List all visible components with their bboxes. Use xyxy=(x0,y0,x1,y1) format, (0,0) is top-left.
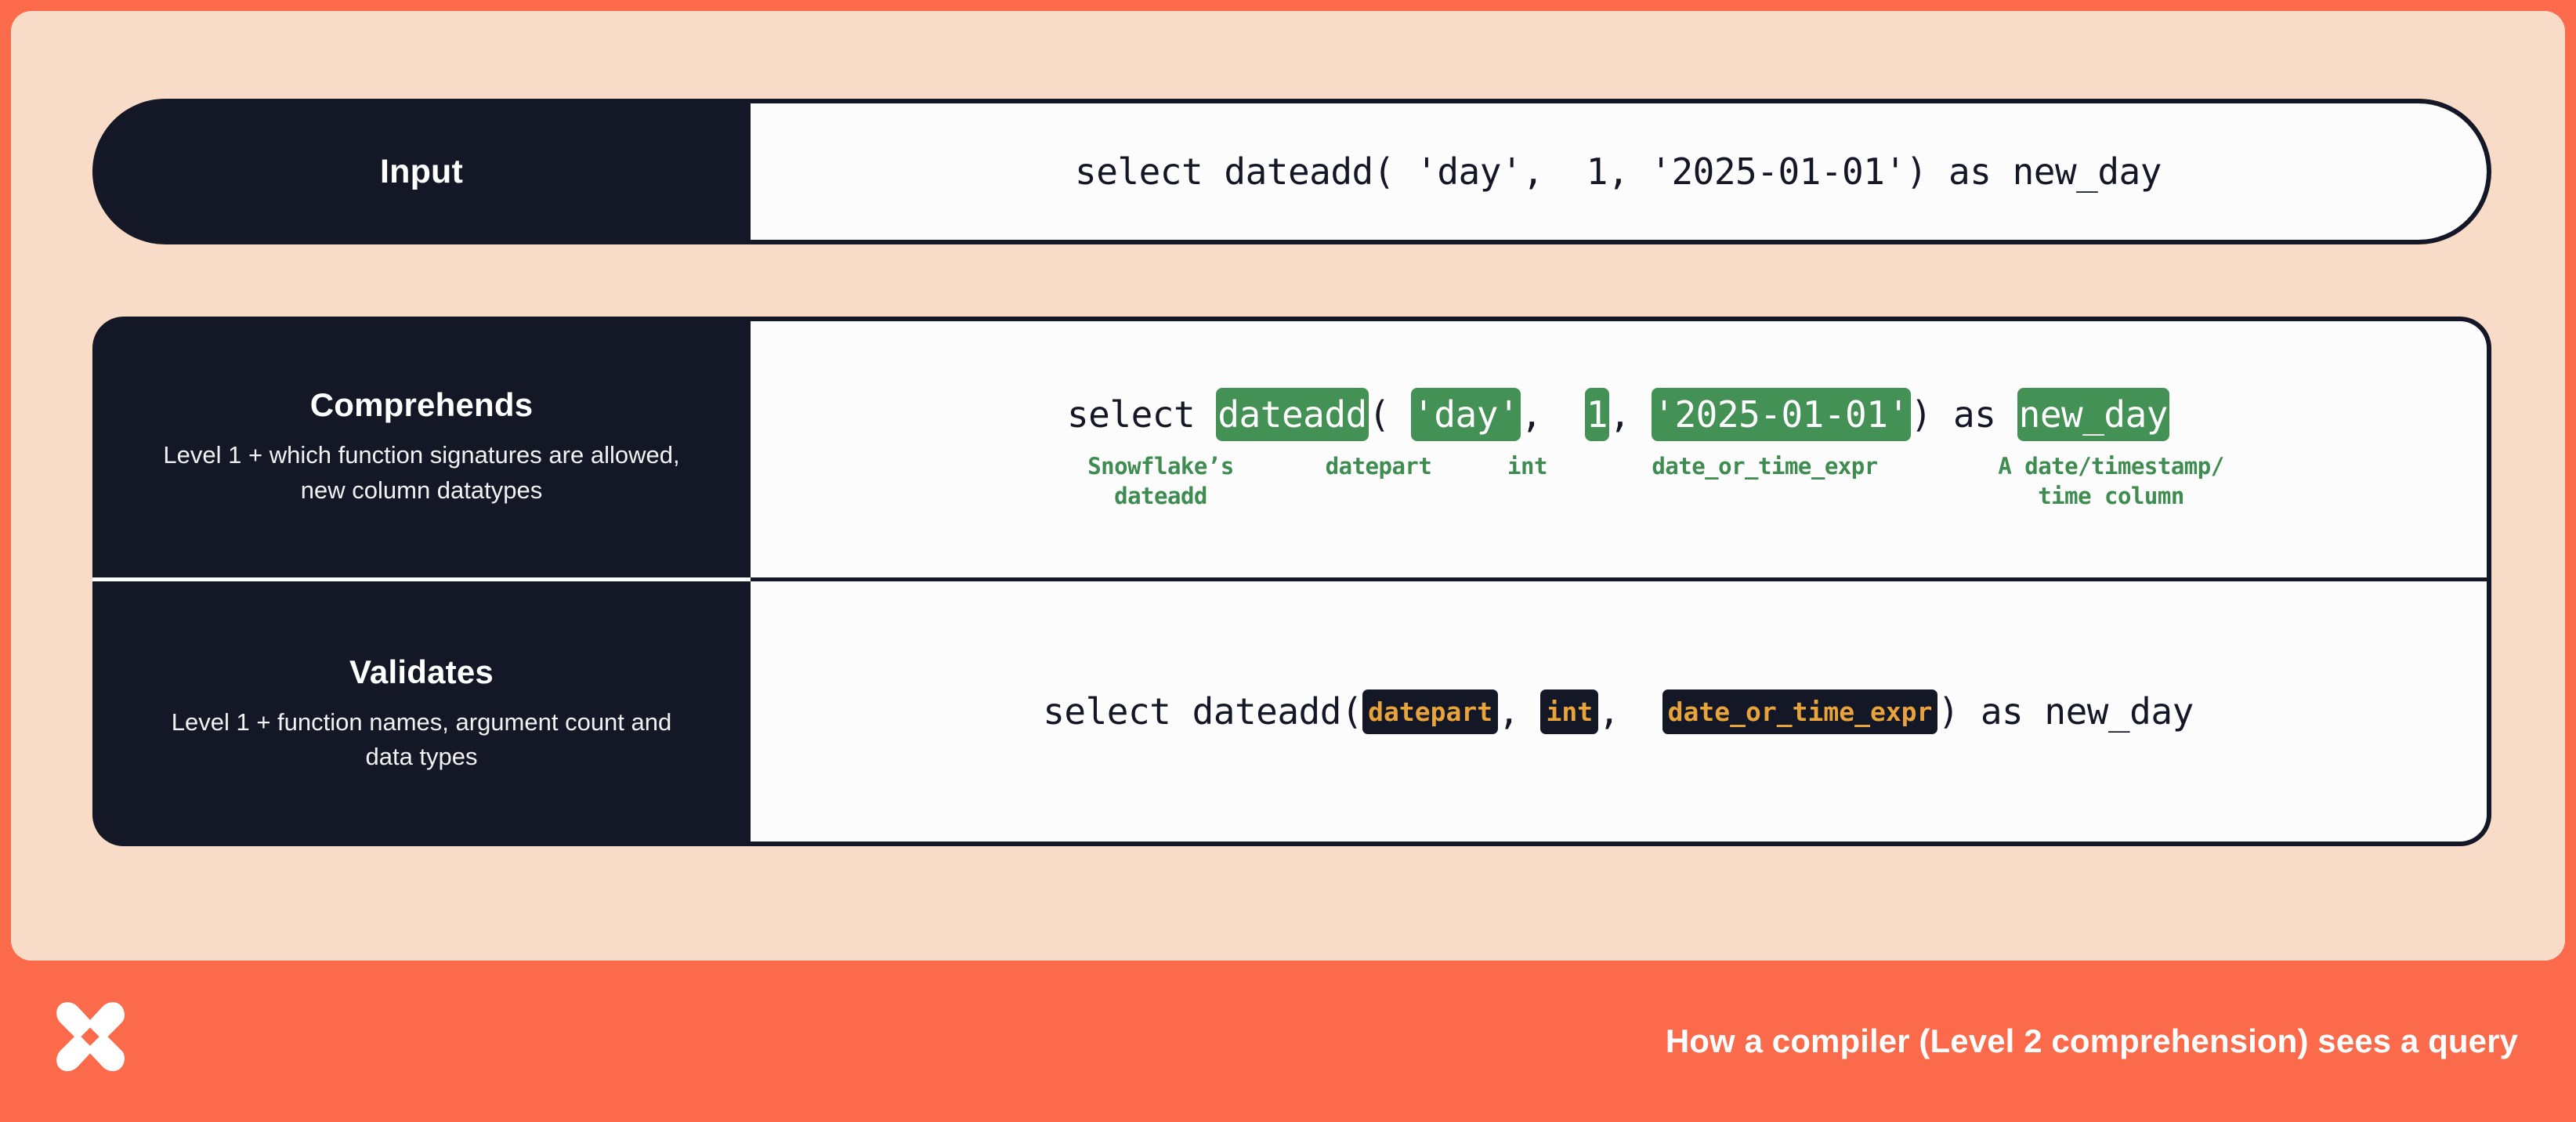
comprehends-annotation: datepart xyxy=(1281,452,1477,481)
validates-title: Validates xyxy=(349,653,494,691)
validates-label-cell: Validates Level 1 + function names, argu… xyxy=(92,581,751,846)
validates-token: ) as new_day xyxy=(1937,690,2193,733)
comprehends-label-cell: Comprehends Level 1 + which function sig… xyxy=(92,317,751,581)
footer-caption: How a compiler (Level 2 comprehension) s… xyxy=(1666,1022,2518,1060)
comprehends-description: Level 1 + which function signatures are … xyxy=(147,438,696,507)
validates-query-line: select dateadd(datepart, int, date_or_ti… xyxy=(1043,689,2194,734)
x-star-logo-icon xyxy=(44,995,136,1088)
comprehends-token-highlighted: 'day' xyxy=(1411,388,1521,441)
comprehends-annotation-row: Snowflake’s dateadddatepartintdate_or_ti… xyxy=(969,452,2268,510)
comprehends-token-highlighted: dateadd xyxy=(1216,388,1368,441)
validates-token: select dateadd( xyxy=(1043,690,1362,733)
input-row-code-panel: select dateadd( 'day', 1, '2025-01-01') … xyxy=(750,99,2491,244)
comprehends-query-line: select dateadd( 'day', 1, '2025-01-01') … xyxy=(1067,388,2169,441)
input-row-label: Input xyxy=(92,99,751,244)
comprehends-title: Comprehends xyxy=(310,386,534,424)
comprehends-annotation: A date/timestamp/ time column xyxy=(1955,452,2268,510)
validates-token-badge: datepart xyxy=(1362,689,1498,734)
infographic-root: Input select dateadd( 'day', 1, '2025-01… xyxy=(0,0,2576,1122)
validates-description: Level 1 + function names, argument count… xyxy=(147,705,696,774)
validates-token: , xyxy=(1598,690,1662,733)
levels-card: Comprehends Level 1 + which function sig… xyxy=(92,317,2491,846)
comprehends-token-highlighted: 1 xyxy=(1585,388,1609,441)
comprehends-token-highlighted: new_day xyxy=(2017,388,2169,441)
levels-label-column: Comprehends Level 1 + which function sig… xyxy=(92,317,751,846)
content-panel: Input select dateadd( 'day', 1, '2025-01… xyxy=(11,11,2565,961)
input-query-text: select dateadd( 'day', 1, '2025-01-01') … xyxy=(1075,150,2162,193)
comprehends-code-cell: select dateadd( 'day', 1, '2025-01-01') … xyxy=(750,321,2487,581)
comprehends-annotation: date_or_time_expr xyxy=(1593,452,1937,481)
comprehends-token: , xyxy=(1521,393,1585,436)
input-row: Input select dateadd( 'day', 1, '2025-01… xyxy=(92,99,2491,244)
comprehends-annotation: int xyxy=(1477,452,1579,481)
levels-code-column: select dateadd( 'day', 1, '2025-01-01') … xyxy=(750,317,2491,846)
validates-token-badge: int xyxy=(1540,689,1598,734)
validates-token: , xyxy=(1498,690,1540,733)
comprehends-token: select xyxy=(1067,393,1216,436)
validates-code-cell: select dateadd(datepart, int, date_or_ti… xyxy=(750,581,2487,841)
comprehends-token: ) as xyxy=(1911,393,2017,436)
validates-token-badge: date_or_time_expr xyxy=(1662,689,1938,734)
comprehends-token-highlighted: '2025-01-01' xyxy=(1652,388,1910,441)
comprehends-token: ( xyxy=(1369,393,1411,436)
footer-bar: How a compiler (Level 2 comprehension) s… xyxy=(0,961,2576,1122)
comprehends-annotation: Snowflake’s dateadd xyxy=(1047,452,1275,510)
comprehends-token: , xyxy=(1609,393,1652,436)
